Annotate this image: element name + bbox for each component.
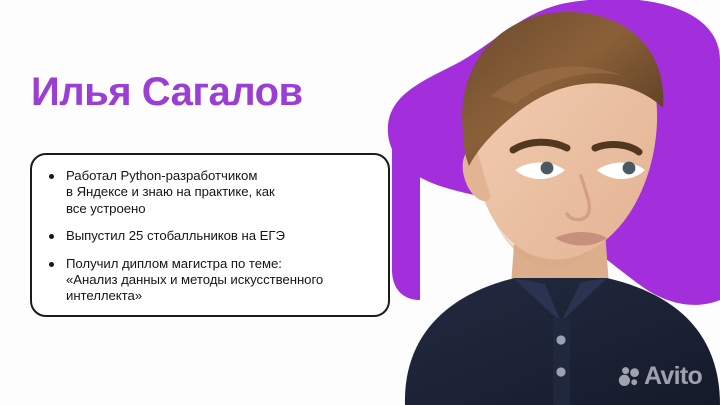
credentials-card: Работал Python-разработчиком в Яндексе и… bbox=[30, 153, 390, 317]
avito-logo: Avito bbox=[618, 364, 702, 389]
list-item-label: Получил диплом магистра по теме: «Анализ… bbox=[66, 256, 372, 305]
bullet-dot-icon bbox=[49, 234, 54, 239]
avito-dots-icon bbox=[618, 366, 640, 388]
page-title: Илья Сагалов bbox=[31, 69, 303, 115]
credentials-list: Работал Python-разработчиком в Яндексе и… bbox=[48, 168, 372, 305]
list-item: Работал Python-разработчиком в Яндексе и… bbox=[48, 168, 372, 217]
list-item-label: Работал Python-разработчиком в Яндексе и… bbox=[66, 168, 372, 217]
person-photo bbox=[395, 0, 720, 405]
bullet-dot-icon bbox=[49, 262, 54, 267]
promo-banner: Илья Сагалов Работал Python-разработчико… bbox=[0, 0, 720, 405]
avito-wordmark: Avito bbox=[644, 364, 702, 389]
bullet-dot-icon bbox=[49, 174, 54, 179]
list-item: Выпустил 25 стобалльников на ЕГЭ bbox=[48, 228, 372, 244]
list-item-label: Выпустил 25 стобалльников на ЕГЭ bbox=[66, 228, 372, 244]
list-item: Получил диплом магистра по теме: «Анализ… bbox=[48, 256, 372, 305]
